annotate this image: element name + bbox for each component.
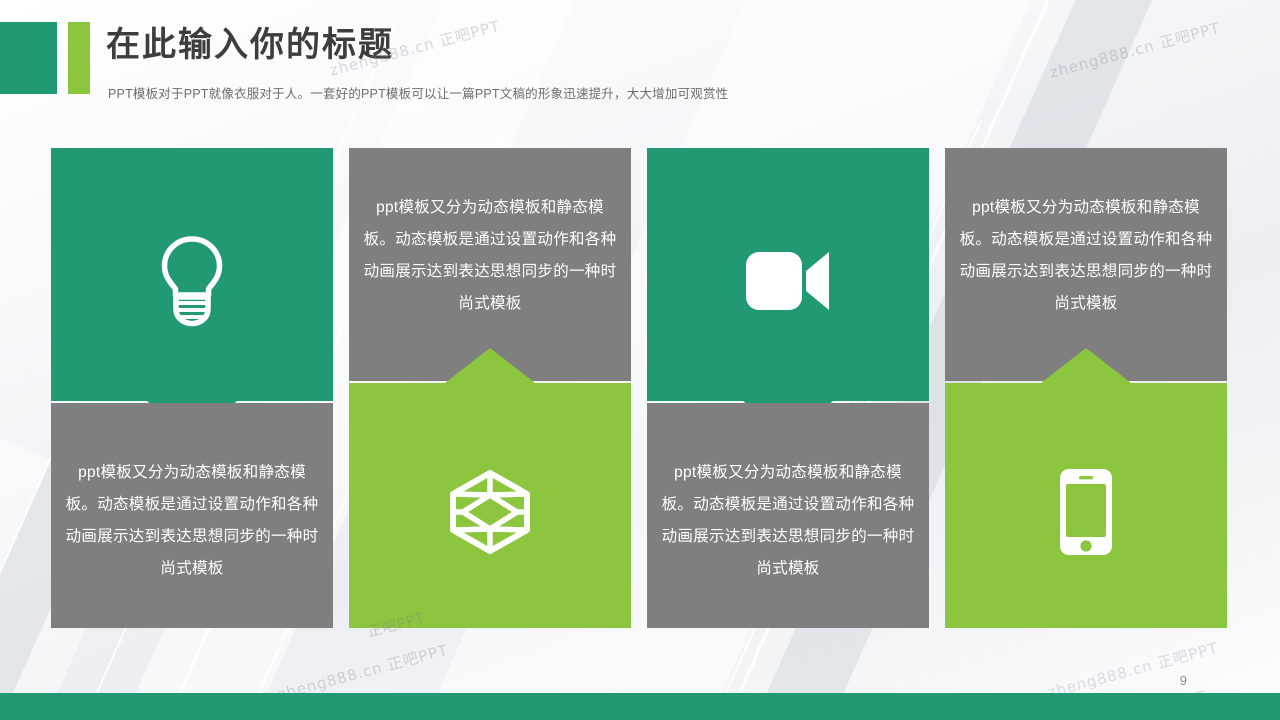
card-4-notch <box>1041 348 1131 383</box>
card-2-icon-panel <box>349 383 631 628</box>
card-4-icon-panel <box>945 383 1227 628</box>
card-4-text-panel: ppt模板又分为动态模板和静态模板。动态模板是通过设置动作和各种动画展示达到表达… <box>945 148 1227 381</box>
smartphone-icon <box>945 457 1227 567</box>
card-3-icon-panel <box>647 148 929 401</box>
footer-bar <box>0 693 1280 720</box>
card-1-icon-panel <box>51 148 333 401</box>
lightbulb-icon <box>51 226 333 336</box>
card-grid: ppt模板又分为动态模板和静态模板。动态模板是通过设置动作和各种动画展示达到表达… <box>0 0 1280 720</box>
card-3-text: ppt模板又分为动态模板和静态模板。动态模板是通过设置动作和各种动画展示达到表达… <box>661 457 915 585</box>
card-3[interactable]: ppt模板又分为动态模板和静态模板。动态模板是通过设置动作和各种动画展示达到表达… <box>647 148 929 628</box>
card-2-notch <box>445 348 535 383</box>
card-2-text: ppt模板又分为动态模板和静态模板。动态模板是通过设置动作和各种动画展示达到表达… <box>363 192 617 320</box>
card-4[interactable]: ppt模板又分为动态模板和静态模板。动态模板是通过设置动作和各种动画展示达到表达… <box>945 148 1227 628</box>
card-2-text-panel: ppt模板又分为动态模板和静态模板。动态模板是通过设置动作和各种动画展示达到表达… <box>349 148 631 381</box>
video-camera-icon <box>647 226 929 336</box>
card-4-text: ppt模板又分为动态模板和静态模板。动态模板是通过设置动作和各种动画展示达到表达… <box>959 192 1213 320</box>
card-3-text-panel: ppt模板又分为动态模板和静态模板。动态模板是通过设置动作和各种动画展示达到表达… <box>647 403 929 628</box>
slide: 在此输入你的标题 PPT模板对于PPT就像衣服对于人。一套好的PPT模板可以让一… <box>0 0 1280 720</box>
card-1-text: ppt模板又分为动态模板和静态模板。动态模板是通过设置动作和各种动画展示达到表达… <box>65 457 319 585</box>
card-2[interactable]: ppt模板又分为动态模板和静态模板。动态模板是通过设置动作和各种动画展示达到表达… <box>349 148 631 628</box>
card-1-text-panel: ppt模板又分为动态模板和静态模板。动态模板是通过设置动作和各种动画展示达到表达… <box>51 403 333 628</box>
card-1[interactable]: ppt模板又分为动态模板和静态模板。动态模板是通过设置动作和各种动画展示达到表达… <box>51 148 333 628</box>
page-number: 9 <box>1180 673 1187 688</box>
cube-icon <box>349 457 631 567</box>
